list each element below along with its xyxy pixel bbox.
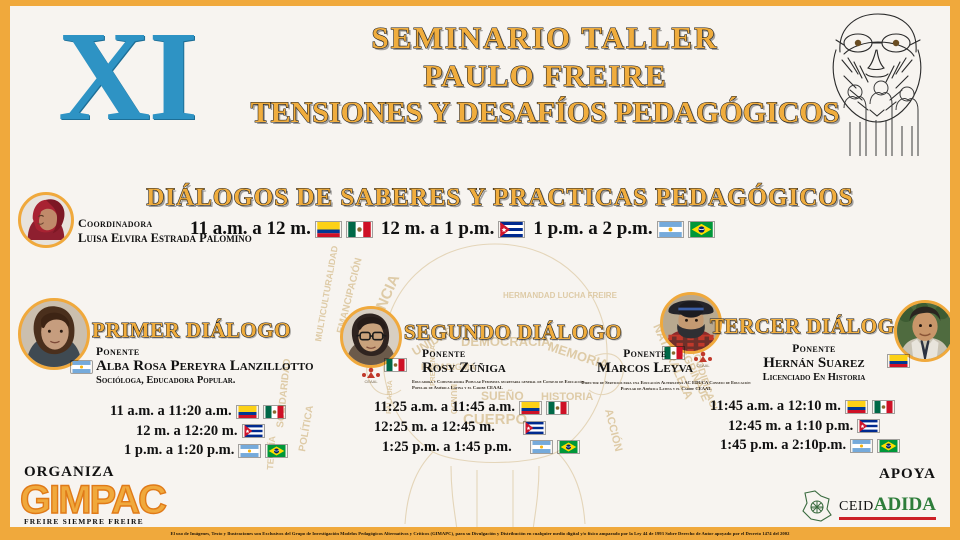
- colombia-flag-icon: [236, 405, 259, 419]
- session-time-3: 1 p.m. a 2 p.m.: [533, 218, 714, 240]
- dialog-1-time-1: 11 a.m. a 11:20 a.m.: [110, 402, 232, 422]
- legal-footer-bar: El uso de Imágenes, Texto y Ilustracione…: [10, 527, 950, 540]
- dialog-3-time-row-1: 11:45 a.m. a 12:10 m.: [710, 397, 960, 417]
- dialog-1-time-3: 1 p.m. a 1:20 p.m.: [124, 441, 234, 461]
- dialog-2-time-2: 12:25 m. a 12:45 m.: [374, 418, 495, 438]
- dialog-3-speaker: Hernán Suarez: [738, 355, 890, 372]
- extra-speaker-ponente-label: Ponente: [580, 348, 710, 360]
- cuba-flag-icon: [523, 421, 546, 435]
- colombia-flag-icon: [315, 221, 342, 238]
- dialog-2-time-row-2: 12:25 m. a 12:45 m.: [374, 418, 640, 438]
- argentina-flag-icon: [850, 439, 873, 453]
- coordinator-role: Coordinadora: [78, 216, 252, 231]
- legal-footer-text: El uso de Imágenes, Texto y Ilustracione…: [171, 531, 790, 536]
- title-line-2: PAULO FREIRE: [205, 58, 885, 94]
- ceid-underline: [839, 517, 936, 520]
- dialog-2-org: Educadora y Comunicadora Popular Feminis…: [412, 379, 592, 390]
- title-line-3: TENSIONES Y DESAFÍOS PEDAGÓGICOS: [205, 96, 885, 130]
- argentina-flag-icon: [657, 221, 684, 238]
- ceid-text: CEID: [839, 499, 874, 514]
- dialog-2-time-row-3: 1:25 p.m. a 1:45 p.m.: [374, 438, 640, 458]
- ceid-adida-logo: ADIDA CEIDADIDA: [799, 489, 936, 523]
- dialog-1-ponente-label: Ponente: [96, 346, 314, 358]
- colombia-flag-icon: [845, 400, 868, 414]
- edition-number: XI: [58, 12, 196, 140]
- dialog-1-time-row-3: 1 p.m. a 1:20 p.m.: [110, 441, 318, 461]
- dialog-2-heading: SEGUNDO DIÁLOGO: [404, 320, 622, 345]
- dialog-column-3: TERCER DIÁLOGO Ponente Hernán Suarez Lic…: [710, 298, 960, 456]
- dialog-2-time-1: 11:25 a.m. a 11:45 a.m.: [374, 398, 515, 418]
- svg-text:CEAAL: CEAAL: [364, 379, 378, 384]
- dialog-3-time-3: 1:45 p.m. a 2:10p.m.: [720, 436, 846, 456]
- argentina-flag-icon: [238, 444, 261, 458]
- colombia-flag-icon: [519, 401, 542, 415]
- session-time-3-label: 1 p.m. a 2 p.m.: [533, 218, 652, 240]
- coordinator-name: Luisa Elvira Estrada Palomino: [78, 231, 252, 246]
- cuba-flag-icon: [242, 424, 265, 438]
- dialog-3-time-2: 12:45 m. a 1:10 p.m.: [728, 417, 853, 437]
- adida-text: ADIDA: [874, 494, 936, 515]
- dialog-3-times: 11:45 a.m. a 12:10 m. 12:45 m. a 1:10 p.…: [710, 397, 960, 456]
- colombia-flag-icon-speaker-3: [887, 354, 910, 368]
- mexico-flag-icon: [263, 405, 286, 419]
- dialog-3-time-row-3: 1:45 p.m. a 2:10p.m.: [710, 436, 960, 456]
- brazil-flag-icon: [265, 444, 288, 458]
- dialog-1-time-row-2: 12 m. a 12:20 m.: [110, 422, 318, 442]
- dialog-2-time-row-1: 11:25 a.m. a 11:45 a.m.: [374, 398, 640, 418]
- argentina-flag-icon-speaker-1: [70, 360, 93, 374]
- ceaal-logo-icon: CEAAL: [360, 364, 382, 384]
- dialog-1-role: Socióloga, Educadora Popular.: [96, 375, 314, 386]
- dialog-1-heading: PRIMER DIÁLOGO: [92, 318, 314, 343]
- dialog-3-time-1: 11:45 a.m. a 12:10 m.: [710, 397, 841, 417]
- dialog-3-ponente-label: Ponente: [738, 343, 890, 355]
- title-block: SEMINARIO TALLER PAULO FREIRE TENSIONES …: [205, 20, 885, 130]
- dialog-1-times: 11 a.m. a 11:20 a.m. 12 m. a 12:20 m. 1 …: [110, 402, 318, 461]
- brazil-flag-icon: [688, 221, 715, 238]
- poster-canvas: CONCIENCIA UNIDAD DEMOCRACIA MEMORIA PAR…: [0, 0, 960, 540]
- cuba-flag-icon: [857, 419, 880, 433]
- svg-text:HERMANDAD LUCHA FREIRE: HERMANDAD LUCHA FREIRE: [503, 291, 618, 300]
- svg-text:ADIDA: ADIDA: [811, 505, 824, 510]
- mexico-flag-icon: [872, 400, 895, 414]
- apoya-label: APOYA: [799, 466, 936, 483]
- ceid-adida-wordmark: CEIDADIDA: [839, 494, 936, 523]
- dialog-3-heading: TERCER DIÁLOGO: [710, 314, 890, 339]
- dialog-1-speaker: Alba Rosa Pereyra Lanzillotto: [96, 358, 314, 375]
- organiza-block: ORGANIZA GIMPAC FREIRE SIEMPRE FREIRE: [20, 464, 165, 526]
- extra-speaker-name: Marcos Leyva: [580, 360, 710, 377]
- speaker-avatar-hernan: [894, 300, 956, 362]
- mexico-flag-icon: [546, 401, 569, 415]
- apoya-block: APOYA ADIDA CEIDADIDA: [799, 466, 936, 523]
- brazil-flag-icon: [877, 439, 900, 453]
- argentina-flag-icon: [530, 440, 553, 454]
- dialog-2-times: 11:25 a.m. a 11:45 a.m. 12:25 m. a 12:45…: [374, 398, 640, 457]
- coordinator-avatar: [18, 192, 74, 248]
- session-time-2-label: 12 m. a 1 p.m.: [381, 218, 494, 240]
- mexico-flag-icon: [346, 221, 373, 238]
- session-time-2: 12 m. a 1 p.m.: [381, 218, 525, 240]
- cuba-flag-icon: [498, 221, 525, 238]
- adida-map-icon: ADIDA: [799, 489, 835, 523]
- dialog-column-1: PRIMER DIÁLOGO Ponente Alba Rosa Pereyra…: [18, 298, 318, 461]
- title-line-1: SEMINARIO TALLER: [205, 20, 885, 56]
- dialog-3-time-row-2: 12:45 m. a 1:10 p.m.: [710, 417, 960, 437]
- dialog-1-time-row-1: 11 a.m. a 11:20 a.m.: [110, 402, 318, 422]
- mexico-flag-icon-speaker-2: [384, 358, 407, 372]
- session-times-row: 11 a.m. a 12 m. 12 m. a 1 p.m. 1 p.m. a …: [190, 218, 960, 240]
- gimpac-logo: GIMPAC: [20, 481, 165, 519]
- dialog-1-time-2: 12 m. a 12:20 m.: [136, 422, 238, 442]
- dialog-3-role: Licenciado En Historia: [738, 372, 890, 383]
- dialog-2-time-3: 1:25 p.m. a 1:45 p.m.: [382, 438, 512, 458]
- brazil-flag-icon: [557, 440, 580, 454]
- coordinator-block: Coordinadora Luisa Elvira Estrada Palomi…: [18, 192, 252, 248]
